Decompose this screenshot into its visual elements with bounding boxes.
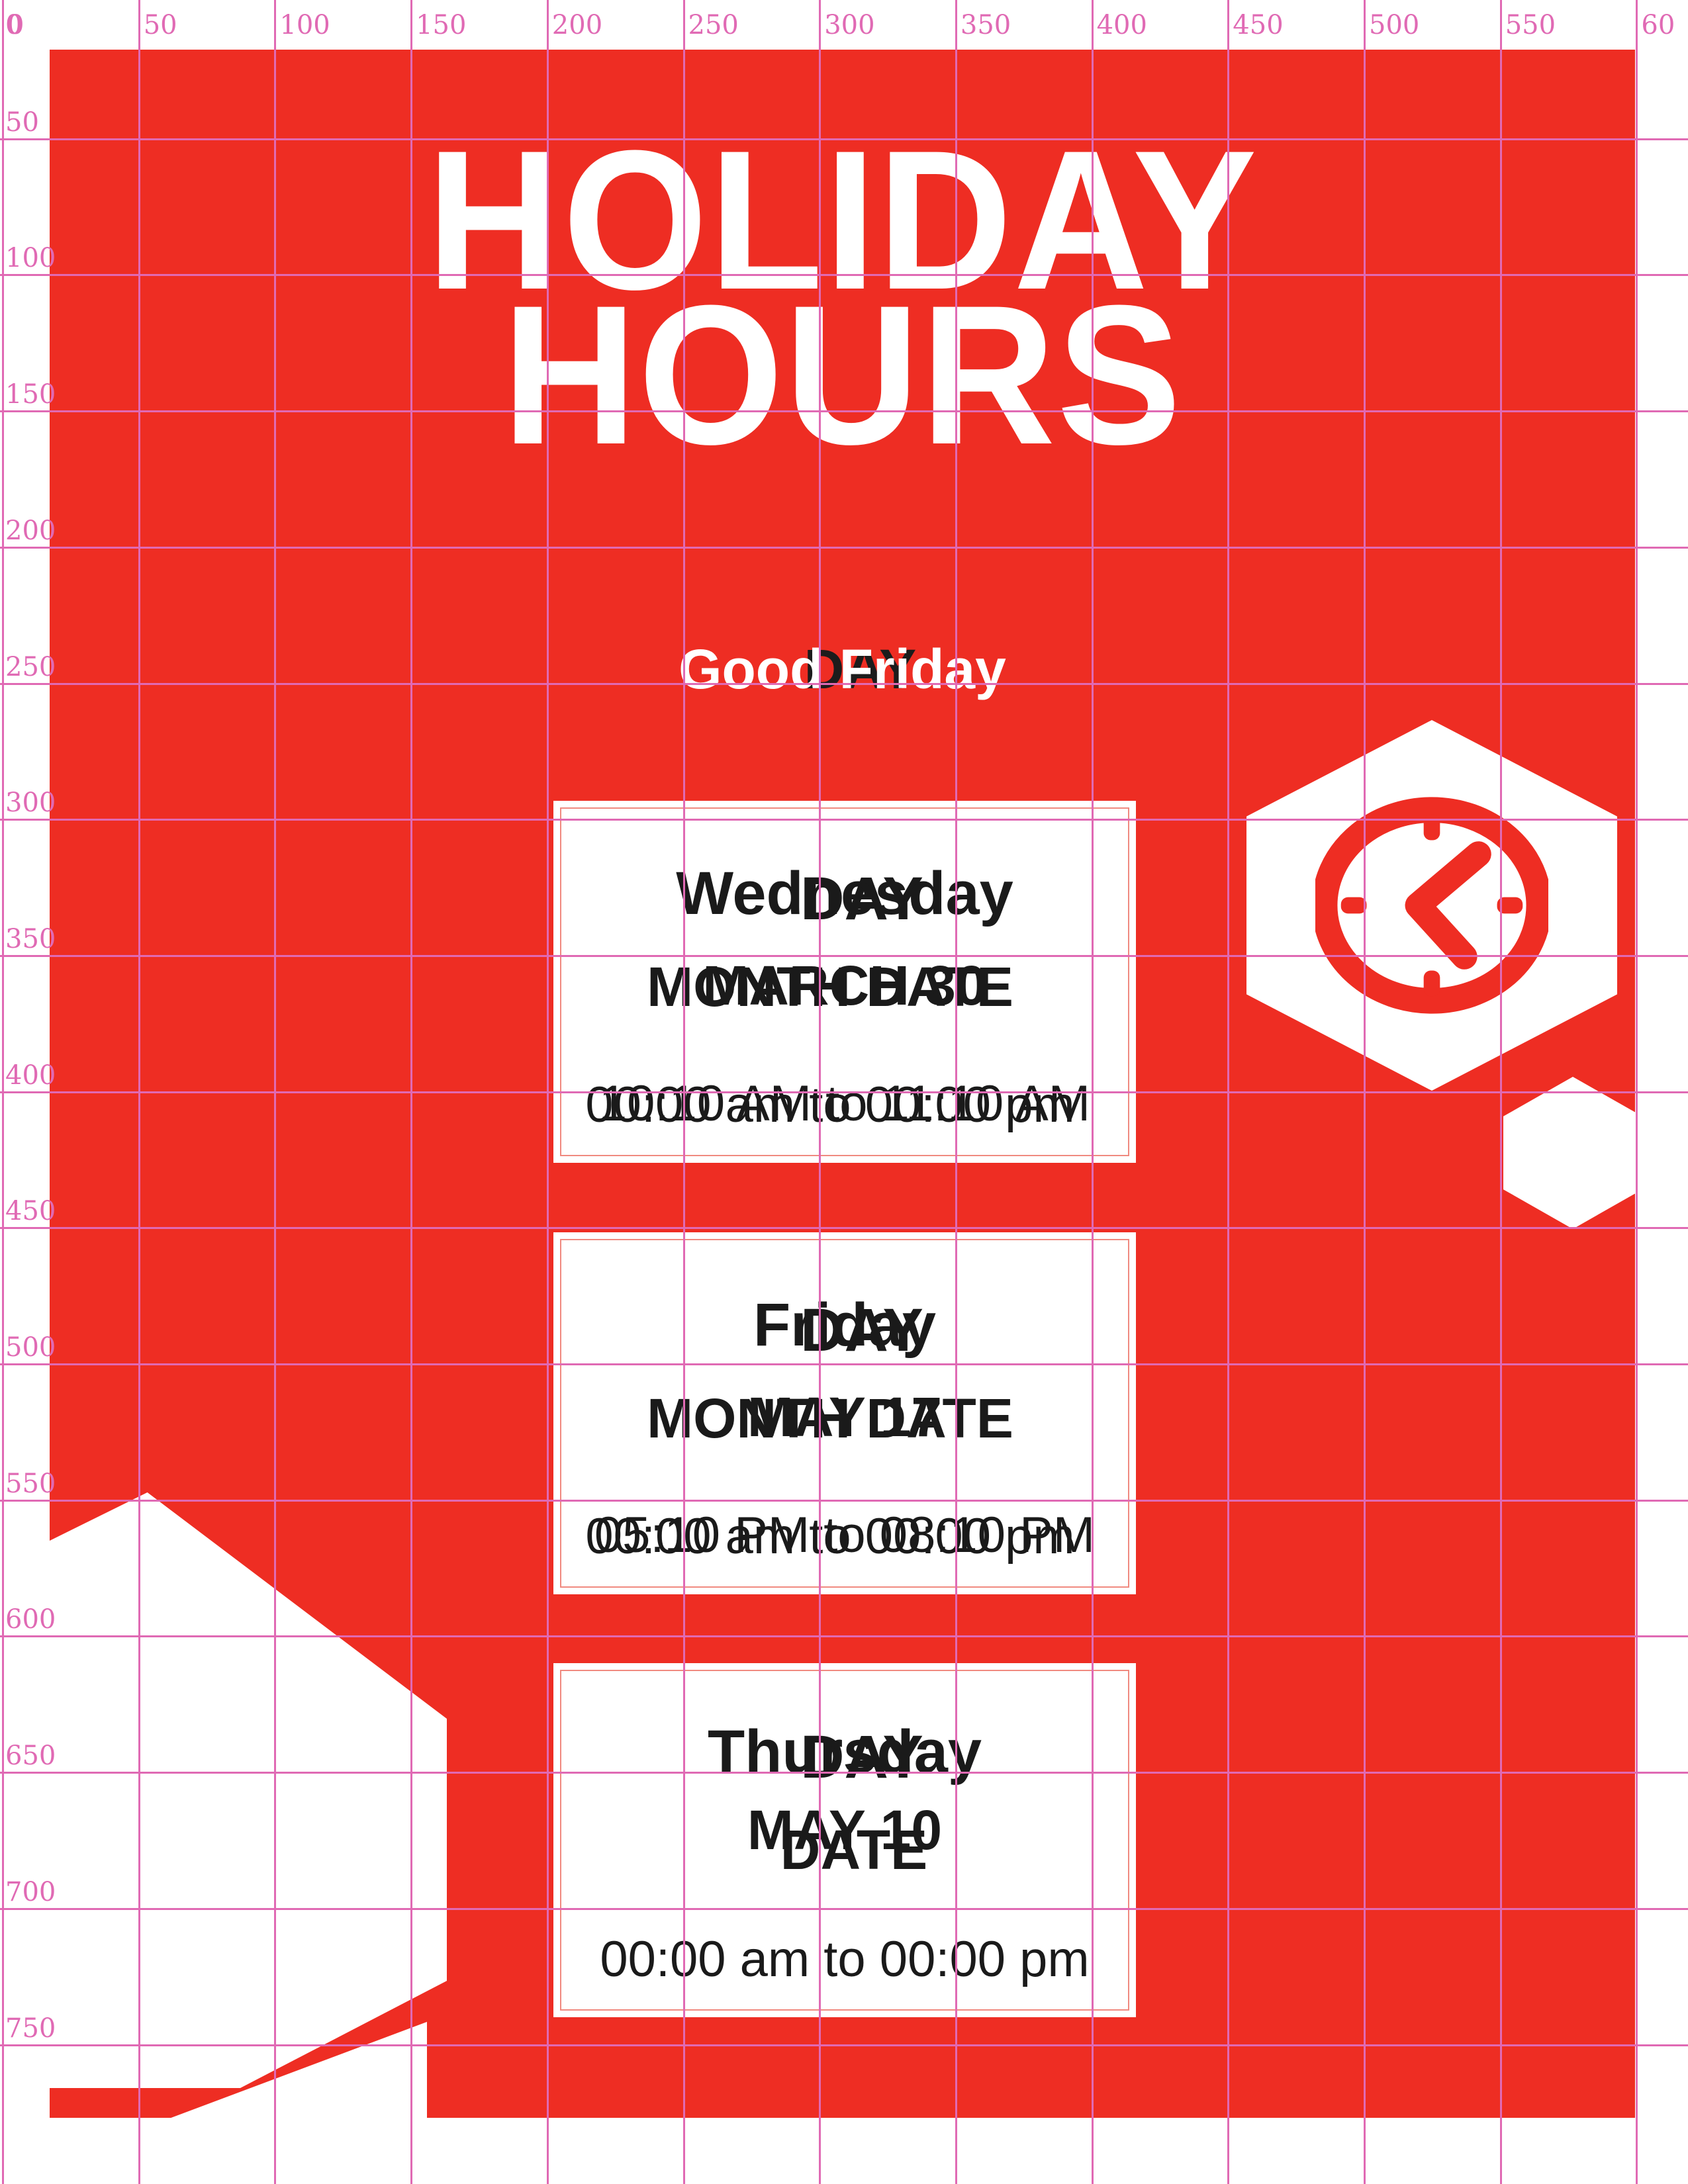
ruler-label-x: 0: [7, 12, 24, 38]
ruler-origin-label: 0: [5, 12, 22, 38]
card-date-value[interactable]: MARCH 30: [553, 958, 1136, 1013]
ruler-label-x: 100: [279, 12, 330, 38]
ruler-label-y: 250: [5, 654, 56, 680]
ruler-label-y: 400: [5, 1062, 56, 1089]
ruler-label-x: 450: [1233, 12, 1283, 38]
ruler-label-y: 350: [5, 926, 56, 952]
schedule-card[interactable]: DAY Thursday DATE MAY 10 00:00 am to 00:…: [553, 1663, 1136, 2017]
card-hours-value[interactable]: 10:10 AM to 11:10 AM: [553, 1079, 1136, 1129]
ruler-label-y: 200: [5, 518, 56, 544]
ruler-label-y: 500: [5, 1334, 56, 1361]
schedule-card[interactable]: DAY Wednesday MONTH DATE MARCH 30 00:00 …: [553, 801, 1136, 1163]
card-date-value[interactable]: MAY 10: [553, 1802, 1136, 1858]
ruler-label-y: 150: [5, 381, 56, 408]
ruler-label-y: 550: [5, 1471, 56, 1497]
ruler-label-x: 500: [1369, 12, 1419, 38]
ruler-label-x: 550: [1505, 12, 1556, 38]
card-day-value[interactable]: Friday: [553, 1295, 1136, 1355]
card-day-value[interactable]: Wednesday: [553, 863, 1136, 924]
card-date-value[interactable]: MAY 17: [553, 1389, 1136, 1445]
clock-icon: [1315, 789, 1548, 1022]
ruler-label-x: 60: [1641, 12, 1675, 38]
ruler-label-x: 400: [1097, 12, 1147, 38]
subtitle-value[interactable]: Good Friday: [50, 639, 1635, 700]
ruler-label-x: 150: [416, 12, 466, 38]
card-hours-value[interactable]: 05:10 PM to 08:10 PM: [553, 1510, 1136, 1561]
subtitle-group: DAY Good Friday: [50, 639, 1635, 711]
poster-canvas: HOLIDAY HOURS DAY Good Friday DAY Wednes…: [50, 50, 1635, 2118]
ruler-label-y: 450: [5, 1198, 56, 1224]
card-day-value[interactable]: Thursday: [553, 1721, 1136, 1782]
ruler-label-x: 350: [961, 12, 1011, 38]
ruler-label-y: 100: [5, 245, 56, 271]
ruler-label-x: 250: [688, 12, 739, 38]
headline-line-2: HOURS: [97, 297, 1587, 452]
grid-line-vertical: [1636, 0, 1638, 2184]
schedule-card[interactable]: DAY Friday MONTH DATE MAY 17 00:00 am to…: [553, 1232, 1136, 1594]
ruler-label-x: 200: [552, 12, 602, 38]
ruler-label-x: 50: [144, 12, 177, 38]
page-title: HOLIDAY HOURS: [97, 142, 1587, 452]
ruler-label-x: 300: [824, 12, 874, 38]
clock-badge: [1246, 720, 1617, 1091]
ruler-label-y: 50: [5, 109, 39, 136]
card-hours-placeholder: 00:00 am to 00:00 pm: [553, 1934, 1136, 1985]
ruler-label-y: 300: [5, 790, 56, 816]
